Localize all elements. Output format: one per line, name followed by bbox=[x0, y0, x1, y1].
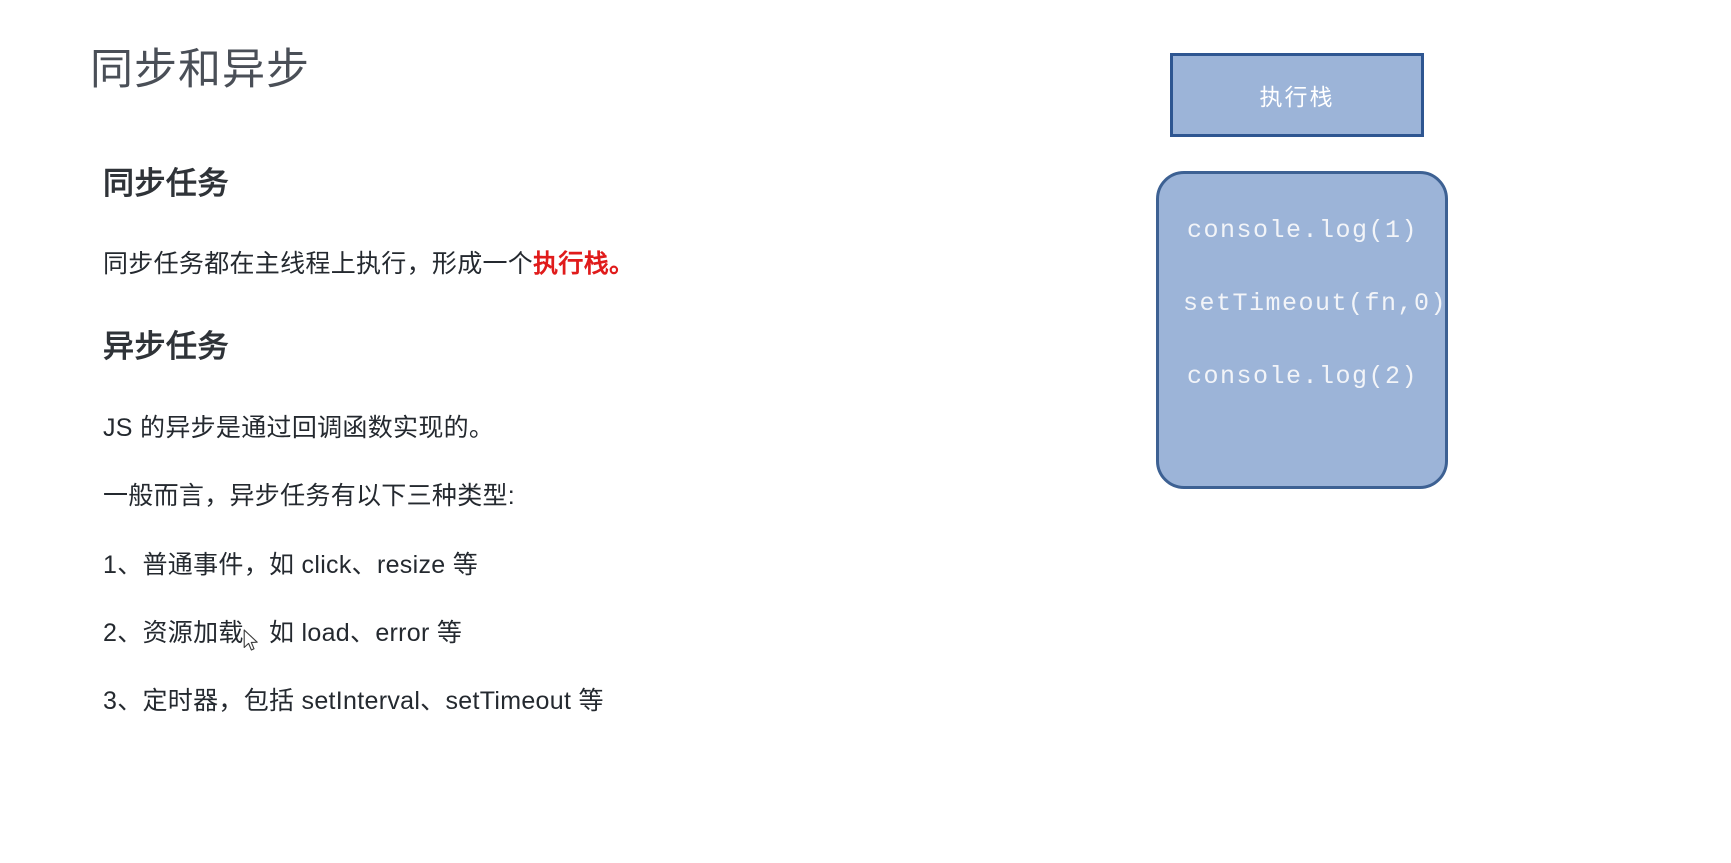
list-item: 1、普通事件，如 click、resize 等 bbox=[103, 549, 478, 583]
paragraph-async-types-intro: 一般而言，异步任务有以下三种类型: bbox=[103, 480, 515, 514]
section-heading-sync: 同步任务 bbox=[103, 158, 229, 203]
section-heading-async: 异步任务 bbox=[103, 321, 229, 366]
stack-entry: console.log(1) bbox=[1187, 218, 1445, 243]
stack-header-label: 执行栈 bbox=[1260, 78, 1335, 112]
paragraph-sync-text: 同步任务都在主线程上执行，形成一个 bbox=[103, 250, 533, 278]
page-title: 同步和异步 bbox=[90, 44, 310, 98]
stack-header-box: 执行栈 bbox=[1170, 53, 1424, 137]
paragraph-sync-highlight: 执行栈。 bbox=[533, 250, 634, 278]
list-item: 3、定时器，包括 setInterval、setTimeout 等 bbox=[103, 685, 604, 719]
paragraph-async-description: JS 的异步是通过回调函数实现的。 bbox=[103, 412, 494, 446]
stack-body-box: console.log(1) setTimeout(fn,0) console.… bbox=[1156, 171, 1448, 489]
call-stack-diagram: 执行栈 console.log(1) setTimeout(fn,0) cons… bbox=[1170, 0, 1570, 560]
list-item: 2、资源加载，如 load、error 等 bbox=[103, 617, 462, 651]
paragraph-sync-description: 同步任务都在主线程上执行，形成一个执行栈。 bbox=[103, 248, 634, 282]
article-content: 同步和异步 同步任务 同步任务都在主线程上执行，形成一个执行栈。 异步任务 JS… bbox=[0, 0, 1000, 863]
stack-entry: console.log(2) bbox=[1187, 364, 1445, 389]
stack-entry: setTimeout(fn,0) bbox=[1183, 291, 1445, 316]
